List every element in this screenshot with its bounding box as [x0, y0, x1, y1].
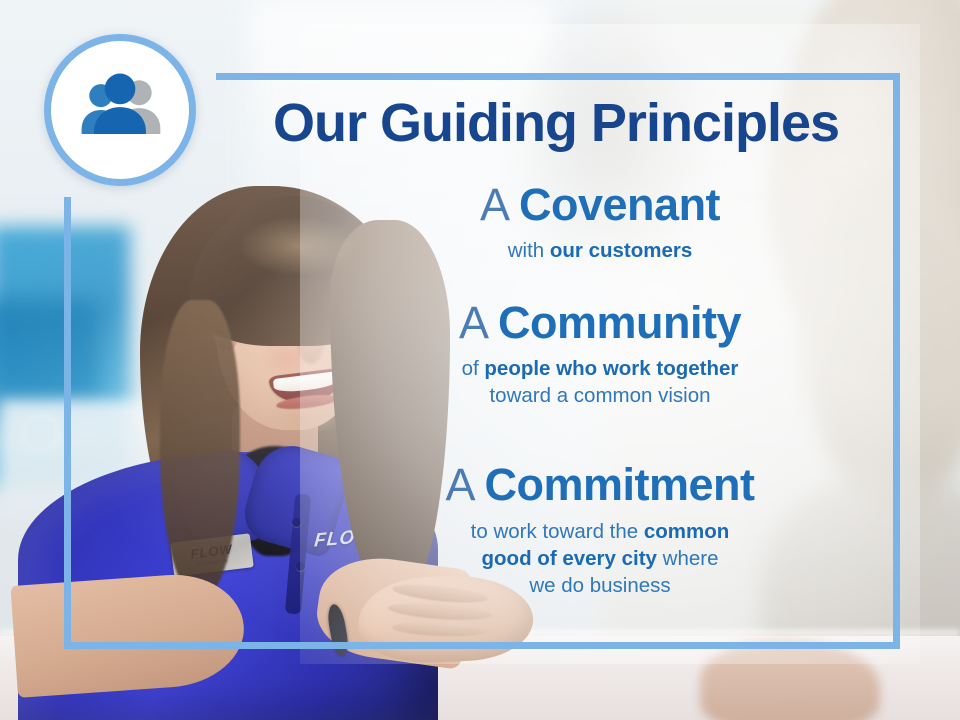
- principle-subtext: to work toward the commongood of every c…: [300, 518, 900, 599]
- principle-keyword: Community: [498, 297, 741, 348]
- principle-headline: A Community: [300, 300, 900, 346]
- principle-keyword: Commitment: [485, 459, 755, 510]
- subtext-emphasis: our customers: [550, 239, 692, 262]
- principle-subtext: of people who work togethertoward a comm…: [300, 355, 900, 409]
- frame-border-bottom: [64, 642, 900, 649]
- subtext-run: toward a common vision: [489, 384, 710, 407]
- subtext-line: we do business: [300, 572, 900, 599]
- principle-covenant: A Covenant with our customers: [300, 182, 900, 264]
- subtext-run: to work toward the: [471, 520, 644, 543]
- subtext-run: we do business: [529, 574, 670, 597]
- subtext-emphasis: people who work together: [484, 357, 738, 380]
- principle-subtext: with our customers: [300, 237, 900, 264]
- employee-hair-strand: [160, 300, 240, 600]
- guiding-principles-graphic: FLOW FLOW AUTOMOTIVE: [0, 0, 960, 720]
- subtext-line: toward a common vision: [300, 382, 900, 409]
- subtext-run: with: [508, 239, 550, 262]
- principle-article: A: [445, 459, 472, 510]
- principle-commitment: A Commitment to work toward the commongo…: [300, 462, 900, 599]
- subtext-run: where: [657, 547, 719, 570]
- subtext-line: to work toward the common: [300, 518, 900, 545]
- subtext-line: good of every city where: [300, 545, 900, 572]
- principle-headline: A Commitment: [300, 462, 900, 508]
- principle-headline: A Covenant: [300, 182, 900, 228]
- subtext-run: of: [462, 357, 485, 380]
- people-group-badge: [44, 34, 196, 186]
- subtext-line: with our customers: [300, 237, 900, 264]
- page-title: Our Guiding Principles: [216, 96, 896, 150]
- principle-article: A: [459, 297, 486, 348]
- principle-keyword: Covenant: [519, 179, 720, 230]
- subtext-emphasis: good of every city: [482, 547, 657, 570]
- people-group-icon: [72, 62, 168, 158]
- principle-community: A Community of people who work togethert…: [300, 300, 900, 409]
- principle-article: A: [480, 179, 507, 230]
- frame-border-left: [64, 197, 71, 649]
- subtext-emphasis: common: [644, 520, 729, 543]
- frame-border-top: [216, 73, 900, 80]
- subtext-line: of people who work together: [300, 355, 900, 382]
